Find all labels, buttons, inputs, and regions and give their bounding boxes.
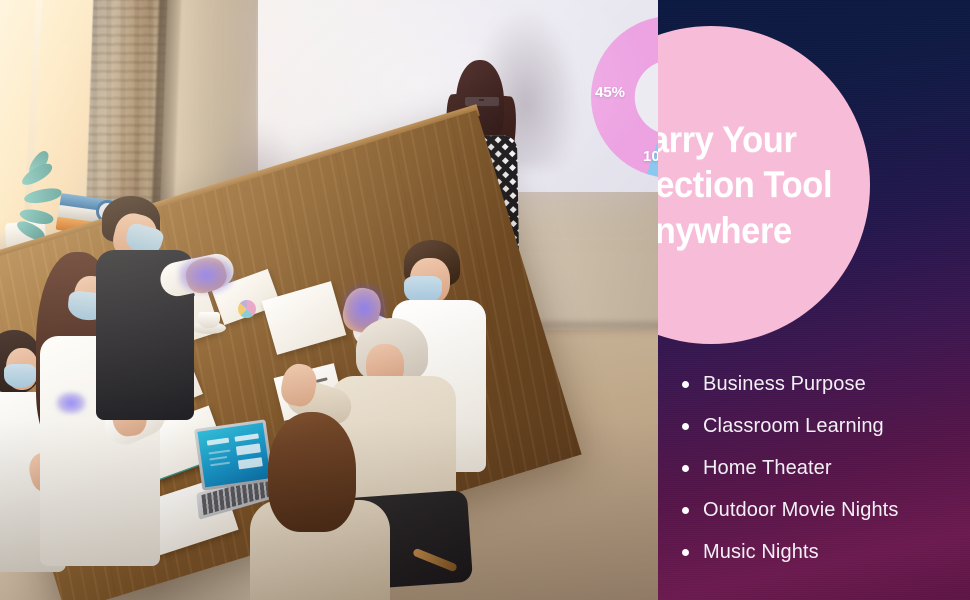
bullet-dot-icon bbox=[682, 507, 689, 514]
marketing-panel: Carry Your Projection Tool Anywhere Busi… bbox=[658, 0, 970, 600]
bullet-dot-icon bbox=[682, 381, 689, 388]
headline-circle: Carry Your Projection Tool Anywhere bbox=[658, 26, 870, 344]
headline-text: Carry Your Projection Tool Anywhere bbox=[658, 117, 851, 254]
list-item: Outdoor Movie Nights bbox=[682, 489, 962, 531]
donut-label-d: 45% bbox=[595, 84, 625, 101]
list-item-label: Music Nights bbox=[703, 541, 819, 564]
donut-chart: 20% 25% 10% 45% bbox=[591, 16, 660, 178]
screen-ui-block bbox=[209, 456, 227, 460]
list-item: Home Theater bbox=[682, 447, 962, 489]
laptop-screen bbox=[197, 423, 270, 488]
list-item: Business Purpose bbox=[682, 363, 962, 405]
face-mask bbox=[4, 364, 36, 388]
printed-pie-chart bbox=[238, 300, 256, 318]
list-item-label: Classroom Learning bbox=[703, 415, 884, 438]
headline-line-3: Anywhere bbox=[658, 208, 851, 254]
bullet-dot-icon bbox=[682, 423, 689, 430]
projector-light-on-hand bbox=[56, 392, 86, 414]
bullet-dot-icon bbox=[682, 549, 689, 556]
meeting-room-photo: 20% 25% 10% 45% bbox=[0, 0, 660, 600]
laptop-lid bbox=[194, 419, 274, 490]
list-item-label: Business Purpose bbox=[703, 373, 866, 396]
list-item: Music Nights bbox=[682, 531, 962, 573]
screen-ui-block bbox=[236, 443, 261, 455]
projector-light-on-hand bbox=[178, 256, 234, 294]
headline-line-2: Projection Tool bbox=[658, 162, 851, 208]
attendee-hair bbox=[268, 412, 356, 532]
list-item: Classroom Learning bbox=[682, 405, 962, 447]
coffee-cup bbox=[198, 312, 220, 328]
screen-ui-block bbox=[210, 462, 230, 467]
headline-line-1: Carry Your bbox=[658, 117, 851, 163]
feature-list: Business Purpose Classroom Learning Home… bbox=[682, 363, 962, 573]
screen-ui-block bbox=[207, 438, 229, 446]
list-item-label: Home Theater bbox=[703, 457, 832, 480]
bullet-dot-icon bbox=[682, 465, 689, 472]
screen-ui-block bbox=[234, 433, 258, 441]
product-banner: 20% 25% 10% 45% bbox=[0, 0, 970, 600]
screen-ui-block bbox=[208, 449, 230, 454]
list-item-label: Outdoor Movie Nights bbox=[703, 499, 898, 522]
screen-ui-block bbox=[238, 457, 263, 469]
